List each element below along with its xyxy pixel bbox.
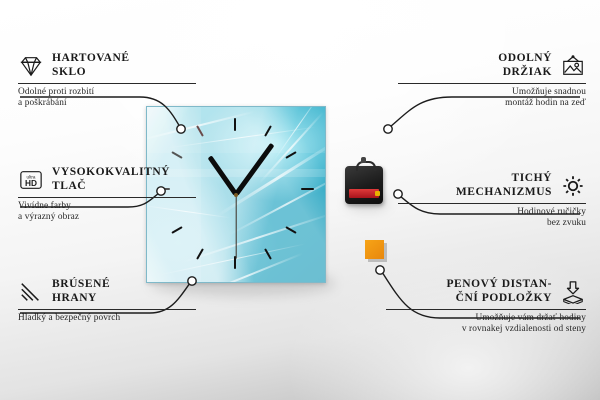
- feature-title-line2: SKLO: [52, 66, 130, 80]
- feature-title-line1: TICHÝ: [456, 172, 552, 186]
- feature-desc-line1: Hladký a bezpečný povrch: [18, 313, 196, 324]
- feature-desc-line2: a výrazný obraz: [18, 212, 196, 223]
- feature-title-line1: BRÚSENÉ: [52, 278, 110, 292]
- feature-title-line2: ČNÍ PODLOŽKY: [446, 292, 552, 306]
- feature-desc-line2: montáž hodin na zeď: [398, 98, 586, 109]
- divider: [398, 203, 586, 204]
- feature-desc-line1: Hodinové ručičky: [398, 207, 586, 218]
- press-layers-icon: [560, 280, 586, 304]
- picture-hanger-icon: [560, 54, 586, 78]
- feature-desc-line1: Umožňuje snadnou: [398, 87, 586, 98]
- feature-desc-line2: v rovnakej vzdialenosti od steny: [386, 324, 586, 335]
- ultra-hd-icon: ultra HD: [18, 168, 44, 192]
- hd-label: HD: [25, 178, 37, 188]
- gear-icon: [560, 174, 586, 198]
- feature-title-line1: ODOLNÝ: [498, 52, 552, 66]
- feature-durable-holder: ODOLNÝ DRŽIAK Umožňuje snadnou montáž ho…: [398, 52, 586, 109]
- second-hand: [235, 195, 236, 259]
- clock-hub: [234, 193, 238, 197]
- feature-high-quality-print: ultra HD VYSOKOKVALITNÝ TLAČ Vivídne far…: [18, 166, 196, 223]
- divider: [18, 197, 196, 198]
- feature-desc-line1: Vivídne farby: [18, 201, 196, 212]
- feature-title-line1: VYSOKOKVALITNÝ: [52, 166, 170, 180]
- feature-title-line1: HARTOVANÉ: [52, 52, 130, 66]
- feature-desc-line1: Odolné proti rozbití: [18, 87, 196, 98]
- diamond-icon: [18, 54, 44, 78]
- feature-title-line2: DRŽIAK: [498, 66, 552, 80]
- feature-title-line2: MECHANIZMUS: [456, 186, 552, 200]
- feature-title-line1: PENOVÝ DISTAN-: [446, 278, 552, 292]
- feature-title-line2: HRANY: [52, 292, 110, 306]
- feature-desc-line2: bez zvuku: [398, 218, 586, 229]
- feature-title-line2: TLAČ: [52, 180, 170, 194]
- divider: [386, 309, 586, 310]
- infographic-canvas: HARTOVANÉ SKLO Odolné proti rozbití a po…: [0, 0, 600, 400]
- feature-ground-edges: BRÚSENÉ HRANY Hladký a bezpečný povrch: [18, 278, 196, 324]
- feature-silent-mechanism: TICHÝ MECHANIZMUS Hodinové ručičky bez z…: [398, 172, 586, 229]
- feature-desc-line1: Umožňuje vám držať hodiny: [386, 313, 586, 324]
- feature-desc-line2: a poškrábání: [18, 98, 196, 109]
- divider: [398, 83, 586, 84]
- feature-foam-pads: PENOVÝ DISTAN- ČNÍ PODLOŽKY Umožňuje vám…: [386, 278, 586, 335]
- polished-edges-icon: [18, 280, 44, 304]
- divider: [18, 309, 196, 310]
- feature-tempered-glass: HARTOVANÉ SKLO Odolné proti rozbití a po…: [18, 52, 196, 109]
- divider: [18, 83, 196, 84]
